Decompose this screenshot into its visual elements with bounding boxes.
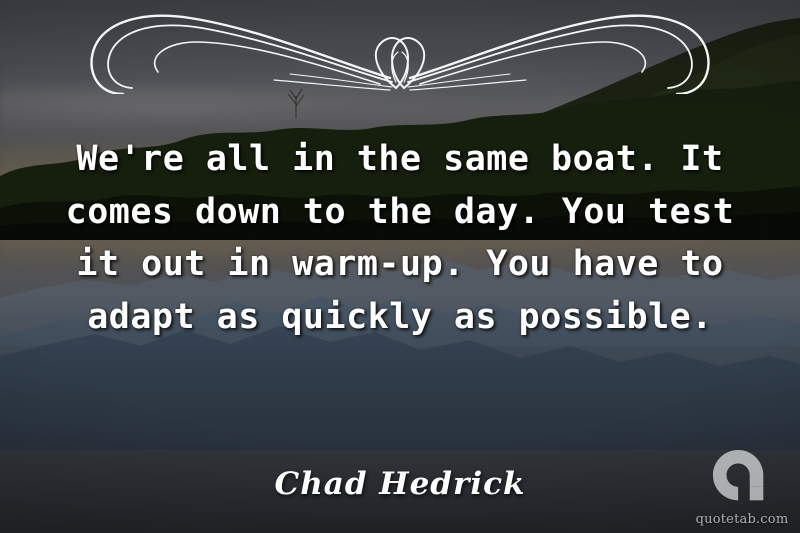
quote-author: Chad Hedrick (0, 466, 800, 502)
decorative-flourish-divider (60, 8, 740, 94)
quote-text: We're all in the same boat. It comes dow… (40, 133, 760, 343)
quotetab-q-logo-icon[interactable] (711, 448, 773, 510)
brand-watermark[interactable]: quotetab.com (694, 448, 790, 527)
quote-image-card: We're all in the same boat. It comes dow… (0, 0, 800, 533)
brand-site-label[interactable]: quotetab.com (694, 512, 790, 527)
